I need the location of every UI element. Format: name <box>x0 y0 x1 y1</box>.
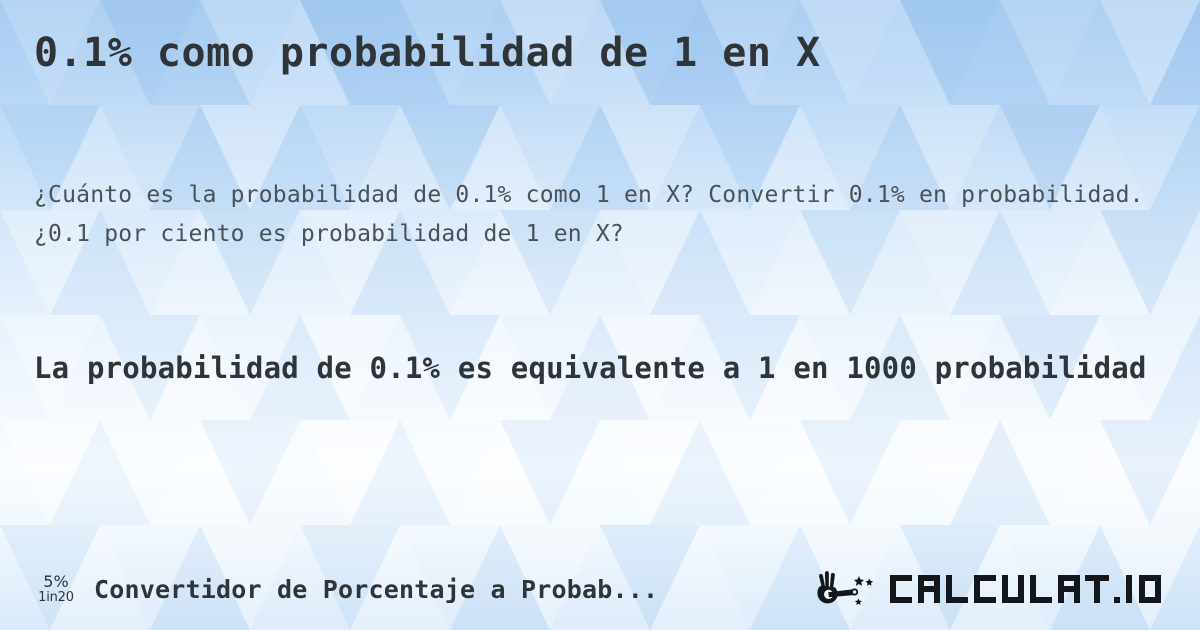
answer-statement: La probabilidad de 0.1% es equivalente a… <box>34 345 1154 392</box>
share-card: 0.1% como probabilidad de 1 en X ¿Cuánto… <box>0 0 1200 630</box>
intro-paragraph: ¿Cuánto es la probabilidad de 0.1% como … <box>34 176 1146 253</box>
percent-odds-badge: 5% 1in20 <box>30 573 82 605</box>
badge-odds-value: 1in20 <box>30 591 82 606</box>
badge-percent-value: 5% <box>30 573 82 591</box>
hand-magic-wand-icon <box>814 568 880 610</box>
calculatio-wordmark: CALCULAT.IO <box>886 567 1176 611</box>
content-area: 0.1% como probabilidad de 1 en X ¿Cuánto… <box>0 0 1200 630</box>
calculatio-logo[interactable]: CALCULAT.IO <box>814 567 1176 611</box>
page-title: 0.1% como probabilidad de 1 en X <box>34 30 1166 77</box>
footer-tool-title: Convertidor de Porcentaje a Probab... <box>94 575 658 604</box>
footer-bar: 5% 1in20 Convertidor de Porcentaje a Pro… <box>0 548 1200 630</box>
